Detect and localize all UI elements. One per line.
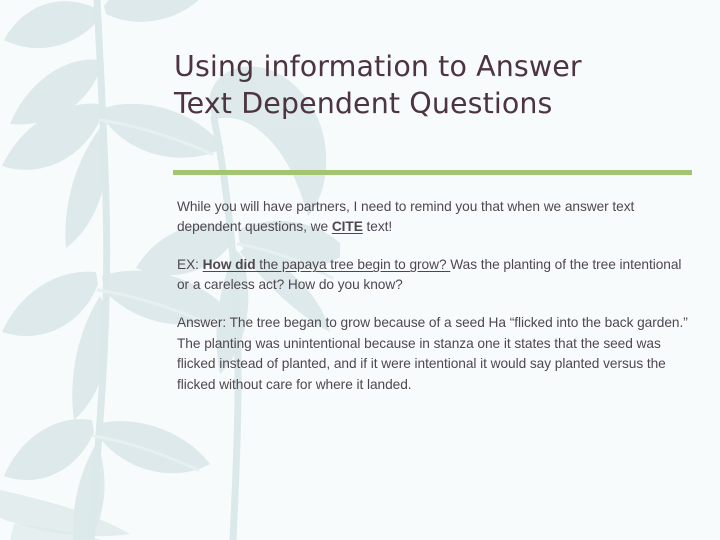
paragraph-example: EX: How did the papaya tree begin to gro… xyxy=(177,255,693,294)
reminder-text-after: text! xyxy=(363,219,392,234)
reminder-emphasis-cite: CITE xyxy=(332,219,363,234)
title-block: Using information to Answer Text Depende… xyxy=(174,48,694,122)
body-content: While you will have partners, I need to … xyxy=(177,197,693,395)
paragraph-answer: Answer: The tree began to grow because o… xyxy=(177,313,693,395)
title-divider-rule xyxy=(173,170,692,175)
example-label: EX: xyxy=(177,257,203,272)
paragraph-reminder: While you will have partners, I need to … xyxy=(177,197,693,236)
example-question-rest: the papaya tree begin to grow? xyxy=(256,257,451,272)
example-question-bold: How did xyxy=(203,257,256,272)
slide: Using information to Answer Text Depende… xyxy=(0,0,720,540)
page-title: Using information to Answer Text Depende… xyxy=(174,48,694,122)
reminder-text-before: While you will have partners, I need to … xyxy=(177,199,634,234)
